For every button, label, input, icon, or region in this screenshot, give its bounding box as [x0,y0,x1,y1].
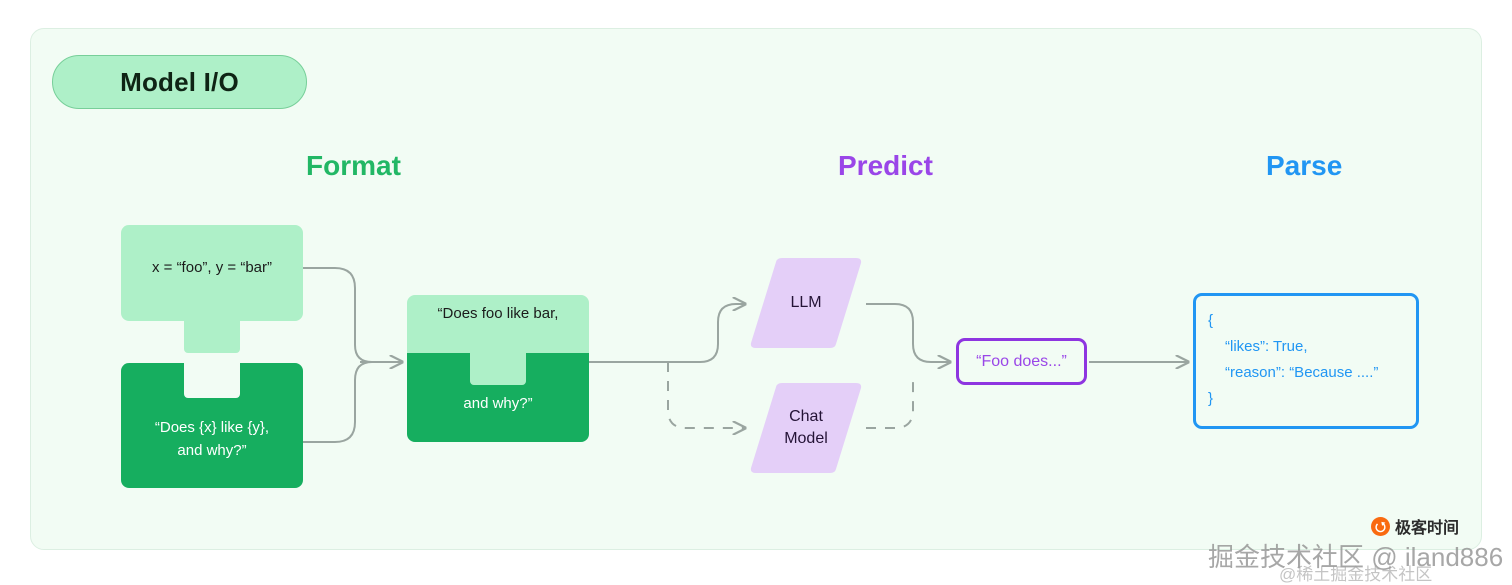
variables-puzzle-piece: x = “foo”, y = “bar” [121,225,303,353]
chat-model-node[interactable]: Chat Model [750,383,862,473]
parsed-json-box: { “likes”: True, “reason”: “Because ....… [1193,293,1419,429]
section-header-parse: Parse [1266,150,1342,182]
llm-node[interactable]: LLM [750,258,862,348]
model-output-text: “Foo does...” [976,353,1067,371]
template-puzzle-piece: “Does {x} like {y}, and why?” [121,363,303,488]
geekbang-watermark-label: 极客时间 [1395,514,1459,538]
json-line-close: } [1208,386,1416,412]
section-header-format: Format [306,150,401,182]
model-io-badge-label: Model I/O [120,67,239,98]
merged-prompt-puzzle-piece: “Does foo like bar, and why?” [407,295,589,442]
merged-piece-bottom-label: and why?” [407,395,589,412]
juejin-watermark-sub: @稀土掘金技术社区 [1279,560,1432,585]
template-piece-label: “Does {x} like {y}, and why?” [121,416,303,462]
section-header-format-label: Format [306,150,401,181]
json-line-reason: “reason”: “Because ....” [1208,360,1416,386]
json-line-likes: “likes”: True, [1208,334,1416,360]
geekbang-watermark: ⭯ 极客时间 [1371,514,1459,538]
geekbang-logo-icon: ⭯ [1371,517,1390,536]
model-io-badge: Model I/O [52,55,307,109]
llm-label: LLM [750,258,862,348]
merged-piece-top-label: “Does foo like bar, [407,305,589,322]
section-header-parse-label: Parse [1266,150,1342,181]
variables-piece-label: x = “foo”, y = “bar” [121,256,303,279]
model-output-box: “Foo does...” [956,338,1087,385]
section-header-predict: Predict [838,150,933,182]
variables-piece-shape [121,225,303,353]
chat-model-label: Chat Model [750,383,862,473]
section-header-predict-label: Predict [838,150,933,181]
json-line-open: { [1208,308,1416,334]
